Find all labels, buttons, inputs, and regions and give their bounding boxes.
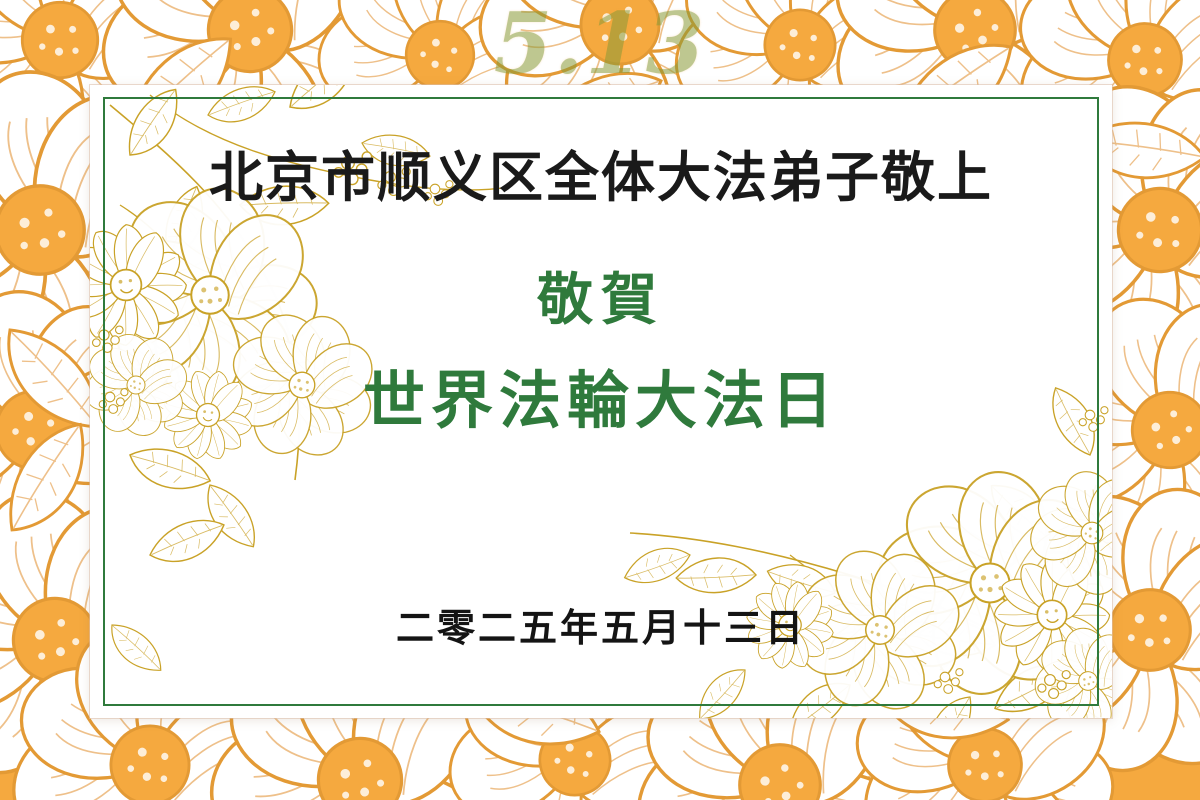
card-greeting: 敬賀	[90, 255, 1112, 336]
card-main-title: 世界法輪大法日	[90, 350, 1112, 440]
greeting-card: 北京市顺义区全体大法弟子敬上 敬賀 世界法輪大法日 二零二五年五月十三日	[90, 85, 1112, 718]
card-date: 二零二五年五月十三日	[90, 597, 1112, 652]
card-headline: 北京市顺义区全体大法弟子敬上	[90, 133, 1112, 212]
card-text-block: 北京市顺义区全体大法弟子敬上 敬賀 世界法輪大法日 二零二五年五月十三日	[90, 85, 1112, 718]
greeting-card-poster: 5.13	[0, 0, 1200, 800]
